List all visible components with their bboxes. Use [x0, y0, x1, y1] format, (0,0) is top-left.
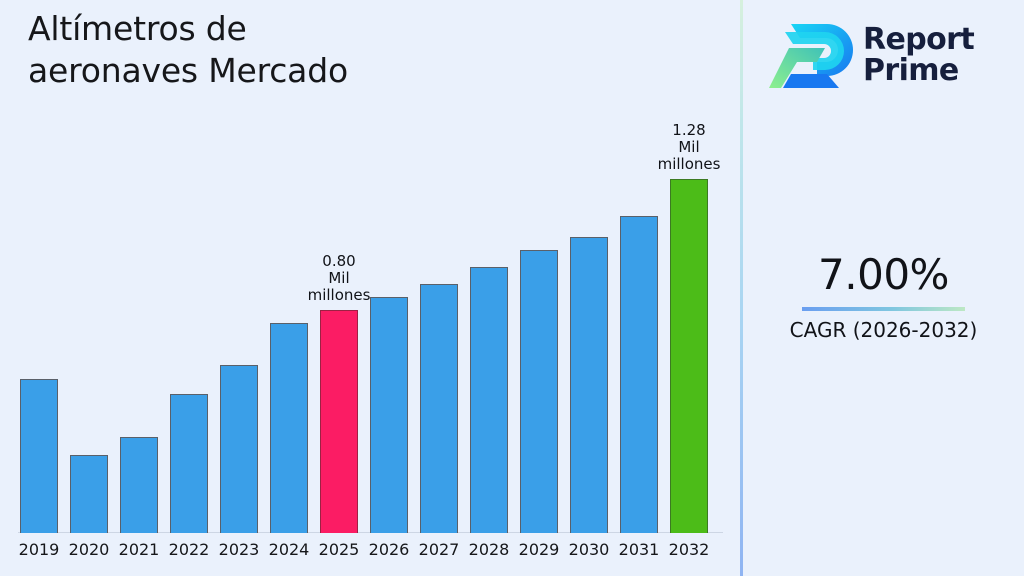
- x-tick-2027: 2027: [414, 540, 464, 559]
- bar-2029: [520, 110, 558, 533]
- bar-rect-2026: [370, 297, 408, 533]
- bar-2031: [620, 110, 658, 533]
- x-tick-2026: 2026: [364, 540, 414, 559]
- bar-2028: [470, 110, 508, 533]
- bar-rect-2022: [170, 394, 208, 533]
- bar-2019: [20, 110, 58, 533]
- bar-2026: [370, 110, 408, 533]
- x-tick-2031: 2031: [614, 540, 664, 559]
- page-title: Altímetros de aeronaves Mercado: [28, 8, 588, 92]
- bar-rect-2019: [20, 379, 58, 533]
- bar-rect-2025: [320, 310, 358, 533]
- bar-rect-2029: [520, 250, 558, 533]
- bar-rect-2024: [270, 323, 308, 533]
- x-tick-2019: 2019: [14, 540, 64, 559]
- bar-2024: [270, 110, 308, 533]
- cagr-value: 7.00%: [743, 252, 1024, 298]
- x-tick-2023: 2023: [214, 540, 264, 559]
- bar-rect-2031: [620, 216, 658, 533]
- logo-wordmark: Report Prime: [863, 24, 974, 87]
- x-tick-2030: 2030: [564, 540, 614, 559]
- bar-2022: [170, 110, 208, 533]
- bar-rect-2021: [120, 437, 158, 533]
- bar-2023: [220, 110, 258, 533]
- screenshot-root: Altímetros de aeronaves Mercado 0.80 Mil…: [0, 0, 1024, 576]
- bar-rect-2027: [420, 284, 458, 533]
- bar-rect-2032: [670, 179, 708, 533]
- x-tick-2025: 2025: [314, 540, 364, 559]
- report-prime-r-mark-icon: [769, 18, 853, 92]
- x-axis-tick-labels: 2019202020212022202320242025202620272028…: [0, 534, 740, 576]
- bar-2025: 0.80 Mil millones: [320, 110, 358, 533]
- brand-panel: Report Prime 7.00% CAGR (2026-2032): [743, 0, 1024, 576]
- bar-rect-2020: [70, 455, 108, 533]
- x-tick-2029: 2029: [514, 540, 564, 559]
- cagr-caption: CAGR (2026-2032): [743, 318, 1024, 342]
- cagr-summary: 7.00% CAGR (2026-2032): [743, 252, 1024, 342]
- x-tick-2022: 2022: [164, 540, 214, 559]
- report-prime-logo: Report Prime: [769, 12, 1009, 98]
- bar-rect-2028: [470, 267, 508, 533]
- cagr-divider-rule: [802, 307, 965, 311]
- x-tick-2021: 2021: [114, 540, 164, 559]
- chart-panel: Altímetros de aeronaves Mercado 0.80 Mil…: [0, 0, 740, 576]
- x-tick-2024: 2024: [264, 540, 314, 559]
- bar-chart-plot: 0.80 Mil millones1.28 Mil millones: [0, 110, 740, 533]
- bar-rect-2030: [570, 237, 608, 533]
- bar-2021: [120, 110, 158, 533]
- bar-rect-2023: [220, 365, 258, 533]
- x-tick-2020: 2020: [64, 540, 114, 559]
- bar-2030: [570, 110, 608, 533]
- x-tick-2032: 2032: [664, 540, 714, 559]
- x-tick-2028: 2028: [464, 540, 514, 559]
- bar-2027: [420, 110, 458, 533]
- bar-2020: [70, 110, 108, 533]
- bar-2032: 1.28 Mil millones: [670, 110, 708, 533]
